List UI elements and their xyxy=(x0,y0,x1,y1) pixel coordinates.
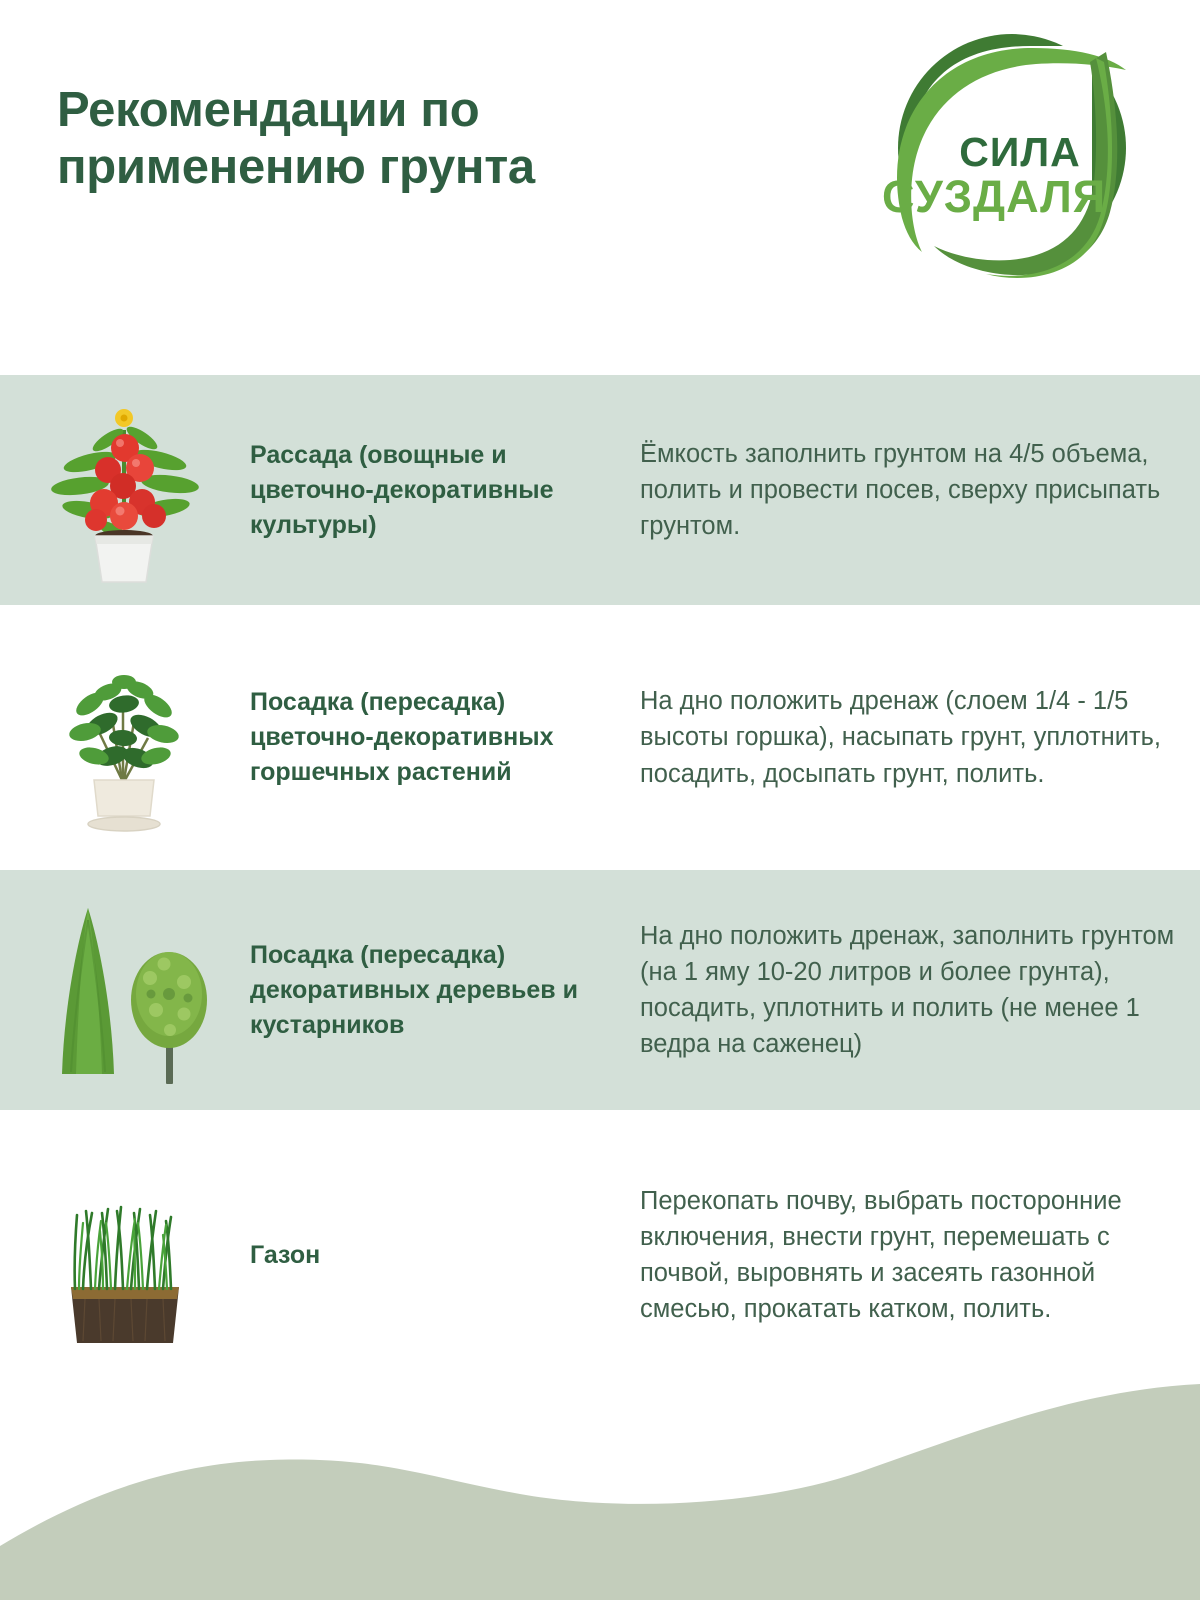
table-row: Рассада (овощные и цветочно-декоративные… xyxy=(0,375,1200,605)
wave-shape xyxy=(0,1384,1200,1600)
row-label: Газон xyxy=(250,1238,640,1273)
sila-suzdalya-logo: СИЛА СУЗДАЛЯ xyxy=(860,18,1150,288)
turf-grass xyxy=(75,1207,171,1289)
row-image-conifer-and-shrub-trees xyxy=(0,870,250,1110)
row-description: На дно положить дренаж, заполнить грунто… xyxy=(640,918,1200,1063)
plant-flower xyxy=(115,409,133,427)
row-label: Рассада (овощные и цветочно-декоративные… xyxy=(250,438,640,543)
table-row: Посадка (пересадка) декоративных деревье… xyxy=(0,870,1200,1110)
row-image-tomato-seedling-in-pot xyxy=(0,375,250,605)
page-header: Рекомендации по применению грунта СИЛА С… xyxy=(0,0,1200,375)
row-label: Посадка (пересадка) цветочно-декоративны… xyxy=(250,685,640,790)
conifer-tree xyxy=(62,908,114,1074)
table-row: Посадка (пересадка) цветочно-декоративны… xyxy=(0,605,1200,870)
recommendation-rows: Рассада (овощные и цветочно-декоративные… xyxy=(0,375,1200,1400)
row-label: Посадка (пересадка) декоративных деревье… xyxy=(250,938,640,1043)
row-image-potted-houseplant xyxy=(0,605,250,870)
logo-text-line2: СУЗДАЛЯ xyxy=(882,171,1106,222)
row-image-lawn-turf-block xyxy=(0,1110,250,1400)
plant-pot xyxy=(94,780,154,816)
page-title: Рекомендации по применению грунта xyxy=(57,82,657,197)
shrub-tree xyxy=(131,952,207,1084)
pot-saucer xyxy=(88,817,160,831)
row-description: Ёмкость заполнить грунтом на 4/5 объема,… xyxy=(640,436,1200,545)
row-description: Перекопать почву, выбрать посторонние вк… xyxy=(640,1183,1200,1328)
table-row: Газон Перекопать почву, выбрать посторон… xyxy=(0,1110,1200,1400)
row-description: На дно положить дренаж (слоем 1/4 - 1/5 … xyxy=(640,683,1200,792)
logo-text-line1: СИЛА xyxy=(959,129,1080,175)
